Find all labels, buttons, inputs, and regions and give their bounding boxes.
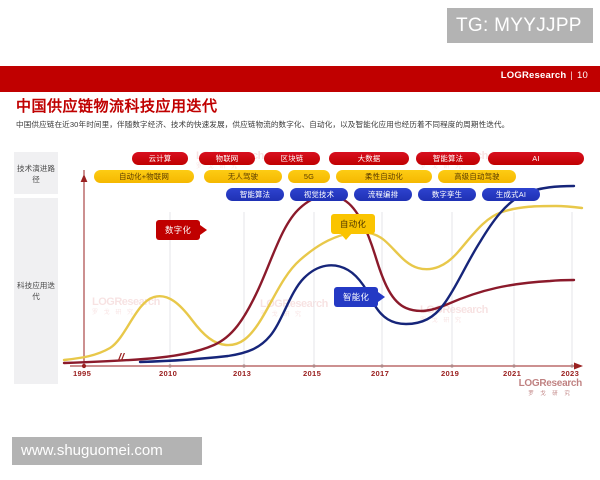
rail-tech-path: 技术演进路径 (14, 152, 58, 194)
pill-red-row-0[interactable]: 云计算 (132, 152, 188, 165)
callout-automation-label: 自动化 (340, 219, 366, 229)
x-axis-year-2015: 2015 (303, 369, 321, 378)
slide-root: TG: MYYJJPP LOGResearch|10 中国供应链物流科技应用迭代… (0, 0, 600, 480)
pill-blue-row-1[interactable]: 视觉技术 (290, 188, 348, 201)
pill-blue-row-0[interactable]: 智能算法 (226, 188, 284, 201)
x-axis-year-2017: 2017 (371, 369, 389, 378)
x-axis-year-2010: 2010 (159, 369, 177, 378)
pill-red-row-4[interactable]: 智能算法 (416, 152, 480, 165)
pill-red-row-5[interactable]: AI (488, 152, 584, 165)
x-axis-year-1995: 1995 (73, 369, 91, 378)
page-subtitle: 中国供应链在近30年时间里，伴随数字经济、技术的快速发展，供应链物流的数字化、自… (16, 119, 586, 130)
x-axis-year-2021: 2021 (503, 369, 521, 378)
callout-tail (378, 292, 385, 302)
x-axis-year-2019: 2019 (441, 369, 459, 378)
pill-yellow-row-0[interactable]: 自动化+物联网 (94, 170, 194, 183)
brand-name: LOGResearch (501, 70, 567, 81)
logo-line2: 罗 戈 研 究 (519, 389, 582, 397)
pill-yellow-row-4[interactable]: 高级自动驾驶 (438, 170, 516, 183)
pill-row-yellow: 自动化+物联网无人驾驶5G柔性自动化高级自动驾驶 (94, 170, 584, 183)
pill-yellow-row-3[interactable]: 柔性自动化 (336, 170, 432, 183)
chart-svg (62, 152, 586, 384)
pill-blue-row-2[interactable]: 流程编排 (354, 188, 412, 201)
callout-automation: 自动化 (331, 214, 375, 234)
axis-break-marker: // (118, 352, 124, 364)
logo-line1: LOGResearch (519, 378, 582, 389)
x-axis-year-2023: 2023 (561, 369, 579, 378)
pill-row-red: 云计算物联网区块链大数据智能算法AI (114, 152, 584, 165)
rail-tech-path-label: 技术演进路径 (14, 163, 58, 185)
series-digitalization-line (64, 196, 574, 363)
callout-digitalization-label: 数字化 (165, 225, 191, 235)
pill-yellow-row-2[interactable]: 5G (288, 170, 330, 183)
pill-blue-row-4[interactable]: 生成式AI (482, 188, 540, 201)
pill-red-row-3[interactable]: 大数据 (329, 152, 409, 165)
series-automation-line (64, 206, 582, 360)
brand-separator: | (570, 70, 573, 81)
callout-digitalization: 数字化 (156, 220, 200, 240)
pill-row-blue: 智能算法视觉技术流程编排数字孪生生成式AI (114, 188, 584, 201)
technology-iteration-chart: // 19952010201320152017201920212023 (62, 152, 586, 384)
pill-red-row-2[interactable]: 区块链 (264, 152, 320, 165)
website-overlay: www.shuguomei.com (12, 437, 202, 465)
callout-intelligence: 智能化 (334, 287, 378, 307)
pill-red-row-1[interactable]: 物联网 (199, 152, 255, 165)
slide-canvas: LOGResearch|10 中国供应链物流科技应用迭代 中国供应链在近30年时… (0, 66, 600, 436)
callout-tail (340, 233, 352, 240)
rail-app-iteration-label: 科技应用迭代 (14, 280, 58, 302)
brand-label: LOGResearch|10 (501, 70, 588, 81)
callout-tail (200, 225, 207, 235)
page-title: 中国供应链物流科技应用迭代 (16, 95, 218, 116)
x-axis-year-2013: 2013 (233, 369, 251, 378)
logo-bottom-right: LOGResearch 罗 戈 研 究 (519, 378, 582, 397)
pill-yellow-row-1[interactable]: 无人驾驶 (204, 170, 282, 183)
chart-x-axis (70, 174, 583, 370)
pill-blue-row-3[interactable]: 数字孪生 (418, 188, 476, 201)
page-number: 10 (577, 70, 588, 81)
callout-intelligence-label: 智能化 (343, 292, 369, 302)
telegram-tag-overlay: TG: MYYJJPP (447, 8, 593, 43)
rail-app-iteration: 科技应用迭代 (14, 198, 58, 384)
